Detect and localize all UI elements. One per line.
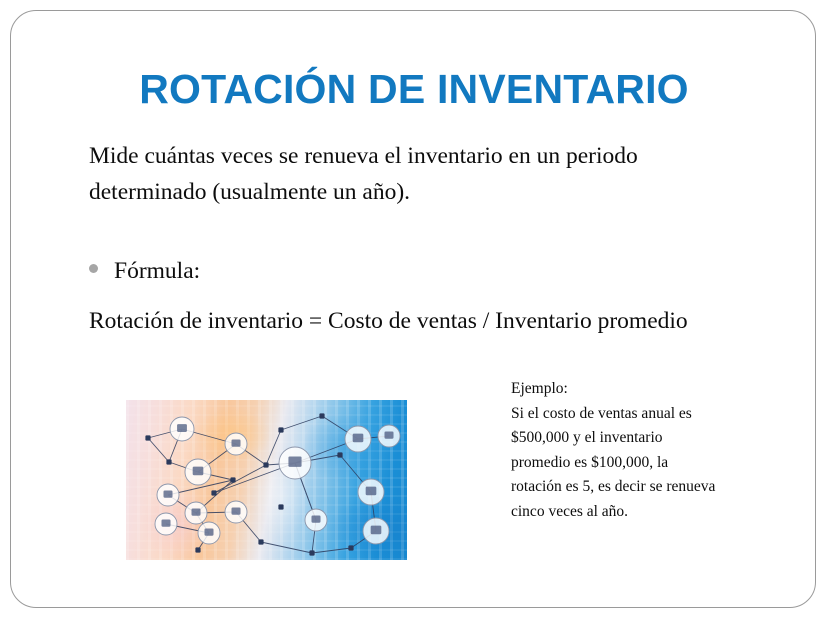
example-line: promedio es $100,000, la (511, 451, 801, 476)
cloud-person-icon (279, 447, 311, 479)
bullet-dot-icon (89, 264, 98, 273)
shopping-cart-icon (225, 433, 247, 455)
example-line: rotación es 5, es decir se renueva (511, 475, 801, 500)
example-text-block: Ejemplo: Si el costo de ventas anual es … (511, 377, 801, 524)
wrench-icon (198, 522, 220, 544)
example-line: $500,000 y el inventario (511, 426, 801, 451)
page-title: ROTACIÓN DE INVENTARIO (0, 66, 828, 112)
bullet-item-label: Fórmula: (114, 255, 200, 287)
sofa-icon (185, 459, 211, 485)
intro-paragraph: Mide cuántas veces se renueva el inventa… (89, 138, 739, 210)
bullet-list-item: Fórmula: (89, 255, 689, 287)
printer-icon (185, 502, 207, 524)
formula-text: Rotación de inventario = Costo de ventas… (89, 303, 709, 339)
example-line: cinco veces al año. (511, 500, 801, 525)
thermometer-icon (157, 484, 179, 506)
monitor-icon (358, 479, 384, 505)
car-icon (378, 425, 400, 447)
device-icon (305, 509, 327, 531)
user-icon (363, 518, 389, 544)
example-heading: Ejemplo: (511, 377, 801, 402)
gears-icon (345, 426, 371, 452)
example-line: Si el costo de ventas anual es (511, 402, 801, 427)
iot-network-image (126, 400, 407, 560)
network-graph-overlay (126, 400, 407, 560)
wifi-icon (225, 501, 247, 523)
slide: ROTACIÓN DE INVENTARIO Mide cuántas vece… (0, 0, 828, 621)
people-group-icon (170, 417, 194, 441)
lightbulb-icon (155, 513, 177, 535)
